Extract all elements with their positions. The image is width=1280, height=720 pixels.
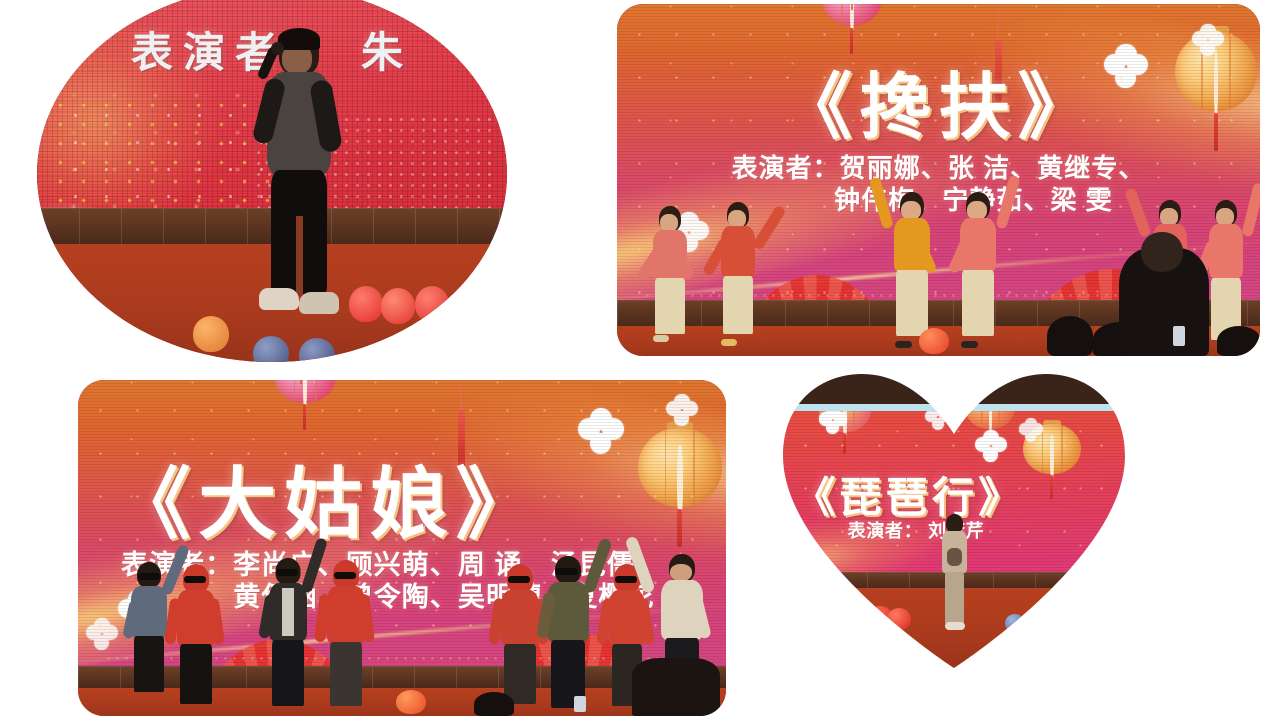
balloon	[887, 608, 911, 630]
performer-leg-gap	[296, 216, 303, 296]
performer-hair	[278, 28, 320, 50]
sunglasses	[184, 576, 206, 583]
performer-shoe	[653, 335, 669, 342]
photo-singer[interactable]: 表演者： 朱	[37, 0, 507, 362]
performer	[256, 558, 320, 708]
phone-screen	[1173, 326, 1185, 346]
cloud-shape	[783, 653, 865, 668]
performer-group-daguniang	[78, 380, 726, 716]
balloon	[381, 288, 415, 324]
performer-torso	[721, 226, 755, 278]
audience-photographer-head	[1141, 232, 1183, 272]
performer-arm-raised	[869, 176, 894, 229]
performer	[945, 192, 1011, 344]
performer-singer	[249, 30, 345, 318]
red-folding-fan	[783, 642, 838, 668]
performer	[164, 564, 228, 706]
performer-legs	[272, 640, 304, 706]
sunglasses	[276, 569, 298, 576]
photo-collage: 表演者： 朱	[0, 0, 1280, 720]
microphone-head	[271, 42, 284, 55]
performer-shoe	[961, 341, 978, 348]
performer-shoe-left	[259, 288, 299, 310]
inner-shirt	[282, 588, 294, 636]
performer-legs	[945, 572, 964, 624]
balloon	[415, 286, 449, 322]
performer-torso	[327, 586, 365, 644]
audience-head	[474, 692, 514, 716]
sunglasses	[508, 576, 530, 583]
performer-arm-raised	[1241, 182, 1260, 237]
sunglasses	[334, 572, 356, 579]
performer-arms	[947, 548, 962, 566]
balloon	[253, 336, 289, 362]
performer-torso	[547, 582, 589, 642]
performer-face	[670, 564, 692, 581]
photo-chanfu[interactable]: 《搀扶》 表演者：贺丽娜、张 洁、黄继专、 钟伟梅、宁静茹、梁 雯	[617, 4, 1260, 356]
balloon	[1005, 614, 1025, 632]
performer-arm-raised	[752, 204, 787, 251]
performer-legs	[962, 270, 994, 336]
performer-legs	[180, 644, 212, 704]
balloon	[919, 328, 949, 354]
performer-arm-raised	[995, 175, 1020, 230]
performer	[639, 206, 701, 338]
photo-daguniang[interactable]: 《大姑娘》 表演者：李尚广、顾兴萌、周 诵、汤昆儒、 黄伊涵、曾令陶、吴明穗、夏…	[78, 380, 726, 716]
performer-shoe	[721, 339, 737, 346]
performer	[707, 202, 769, 342]
audience-silhouette	[632, 658, 720, 716]
cloud-shape	[1057, 656, 1125, 668]
balloon	[396, 690, 426, 714]
performer	[314, 560, 378, 708]
performer	[534, 556, 602, 710]
audience-head	[1217, 326, 1260, 356]
cloud-shape	[968, 655, 1071, 668]
performer	[879, 192, 945, 344]
balloon	[349, 286, 383, 322]
lantern-cap	[982, 383, 998, 389]
audience-head	[1047, 316, 1093, 356]
photo-pipaxing[interactable]: 《琵琶行》 表演者： 刘梦芹	[783, 372, 1125, 668]
screen-top-strip	[783, 404, 1125, 411]
performer-arm-raised	[1124, 187, 1151, 238]
sunglasses	[615, 576, 637, 583]
sunglasses	[555, 568, 578, 575]
phone-screen	[574, 696, 586, 712]
balloon	[193, 316, 229, 352]
performer-shoe	[945, 622, 965, 630]
hall-back-wall	[783, 372, 1125, 404]
performer-legs	[134, 636, 164, 692]
performer-legs	[896, 270, 928, 336]
performer-soloist	[935, 514, 973, 630]
sunglasses	[138, 573, 160, 580]
performer-legs	[330, 642, 362, 706]
performer-shoe	[895, 341, 912, 348]
performer-legs	[723, 276, 753, 334]
performer-legs	[655, 278, 685, 334]
performer-shoe-right	[299, 292, 339, 314]
